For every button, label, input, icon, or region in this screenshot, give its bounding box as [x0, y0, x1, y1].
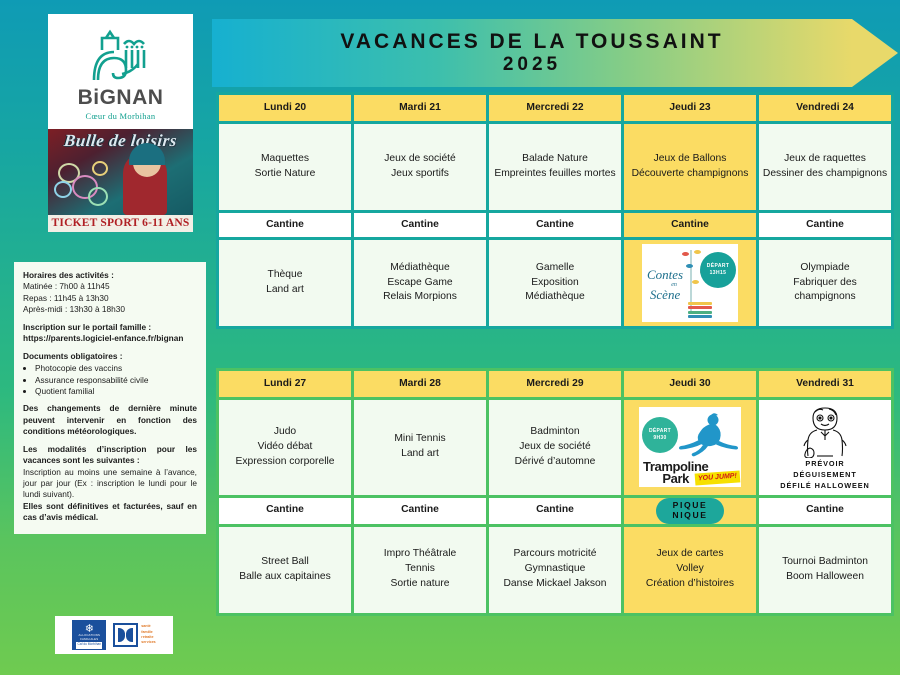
docs-title: Documents obligatoires : — [23, 351, 197, 362]
depart-badge-time: 9H30 — [653, 435, 666, 443]
costumed-child-icon — [797, 404, 853, 458]
leaf-decoration — [692, 280, 699, 284]
flyer-title-main: Contes — [647, 267, 683, 282]
week1-day-header[interactable]: Jeudi 23 — [624, 95, 756, 121]
partner-logos: ❄ ALLOCATIONS FAMILIALES Caf du Morbihan… — [55, 616, 173, 654]
week1-lunch-row: Cantine Cantine Cantine Cantine Cantine — [219, 213, 891, 237]
week1-afternoon-cell: MédiathèqueEscape GameRelais Morpions — [354, 240, 486, 326]
week2-morning-cell-trampoline: DÉPART 9H30 Tram — [624, 400, 756, 495]
info-panel: Horaires des activités : Matinée : 7h00 … — [14, 262, 206, 534]
weather-note: Des changements de dernière minute peuve… — [23, 403, 197, 437]
bubble-decoration — [88, 187, 108, 206]
msa-words: santéfamilleretraiteservices — [141, 624, 155, 646]
week2-morning-cell: BadmintonJeux de sociétéDérivé d’automne — [489, 400, 621, 495]
hours-line-1: Matinée : 7h00 à 11h45 — [23, 281, 197, 292]
week2-lunch-cell-picnic: PIQUE NIQUE — [624, 498, 756, 524]
docs-item: Assurance responsabilité civile — [35, 375, 197, 386]
week1-afternoon-cell: OlympiadeFabriquer des champignons — [759, 240, 891, 326]
week1-day-header[interactable]: Mercredi 22 — [489, 95, 621, 121]
week2-morning-row: JudoVidéo débatExpression corporelle Min… — [219, 400, 891, 495]
depart-badge: DÉPART 13H15 — [700, 252, 736, 288]
week2-afternoon-cell: Tournoi BadmintonBoom Halloween — [759, 527, 891, 613]
bubble-decoration — [54, 181, 72, 198]
week2-lunch-cell: Cantine — [759, 498, 891, 524]
week2-lunch-cell: Cantine — [489, 498, 621, 524]
week1-morning-row: MaquettesSortie Nature Jeux de sociétéJe… — [219, 124, 891, 210]
week1-morning-cell: Balade NatureEmpreintes feuilles mortes — [489, 124, 621, 210]
week2-morning-cell-halloween: PRÉVOIR DÉGUISEMENT DÉFILÉ HALLOWEEN — [759, 400, 891, 495]
week2-day-header[interactable]: Mercredi 29 — [489, 371, 621, 397]
banner-title: VACANCES DE LA TOUSSAINT — [340, 30, 723, 54]
leaf-decoration — [694, 250, 701, 254]
week1-header-row: Lundi 20 Mardi 21 Mercredi 22 Jeudi 23 V… — [219, 95, 891, 121]
bulle-de-loisirs-poster: Bulle de loisirs — [48, 129, 193, 215]
week2-lunch-cell: Cantine — [354, 498, 486, 524]
week2-afternoon-cell: Street BallBalle aux capitaines — [219, 527, 351, 613]
leaf-decoration — [686, 264, 693, 268]
left-column: BiGNAN Cœur du Morbihan Bulle de loisirs… — [48, 14, 193, 232]
flyer-title: Contes en Scène — [647, 268, 683, 302]
banner-year: 2025 — [503, 54, 561, 76]
week1-lunch-cell: Cantine — [624, 213, 756, 237]
modalities-bold: Elles sont définitives et facturées, sau… — [23, 501, 197, 524]
contes-en-scene-flyer: Contes en Scène DÉPART 13H15 — [642, 244, 738, 322]
bubble-decoration — [92, 161, 108, 176]
week2-afternoon-cell: Impro ThéâtraleTennisSortie nature — [354, 527, 486, 613]
week1-day-header[interactable]: Mardi 21 — [354, 95, 486, 121]
docs-item: Quotient familial — [35, 386, 197, 397]
week1-afternoon-row: ThèqueLand art MédiathèqueEscape GameRel… — [219, 240, 891, 326]
week1-morning-cell: Jeux de raquettesDessiner des champignon… — [759, 124, 891, 210]
modalities-title: Les modalités d’inscription pour les vac… — [23, 444, 197, 467]
hours-line-3: Après-midi : 13h30 à 18h30 — [23, 304, 197, 315]
week2-afternoon-cell: Parcours motricitéGymnastiqueDanse Micka… — [489, 527, 621, 613]
hours-line-2: Repas : 11h45 à 13h30 — [23, 293, 197, 304]
modalities-body: Inscription au moins une semaine à l’ava… — [23, 467, 197, 501]
week1-morning-cell: MaquettesSortie Nature — [219, 124, 351, 210]
ticket-sport-strip: TICKET SPORT 6-11 ANS — [48, 215, 193, 232]
flyer-title-sub: Scène — [650, 287, 680, 302]
trampoline-park-flyer: DÉPART 9H30 Tram — [639, 407, 741, 487]
halloween-notice: PRÉVOIR DÉGUISEMENT DÉFILÉ HALLOWEEN — [762, 404, 888, 491]
week1-lunch-cell: Cantine — [489, 213, 621, 237]
banner-text: VACANCES DE LA TOUSSAINT 2025 — [212, 19, 852, 87]
halloween-line-3: DÉFILÉ HALLOWEEN — [762, 481, 888, 491]
week2-day-header[interactable]: Lundi 27 — [219, 371, 351, 397]
depart-badge: DÉPART 9H30 — [642, 417, 678, 453]
week1-afternoon-cell-contes: Contes en Scène DÉPART 13H15 — [624, 240, 756, 326]
week1-afternoon-cell: ThèqueLand art — [219, 240, 351, 326]
book-decoration — [688, 315, 712, 318]
hours-title: Horaires des activités : — [23, 270, 197, 281]
pique-nique-badge: PIQUE NIQUE — [656, 498, 724, 524]
week2-day-header[interactable]: Jeudi 30 — [624, 371, 756, 397]
docs-list: Photocopie des vaccins Assurance respons… — [35, 363, 197, 397]
caf-box-label: Caf du Morbihan — [76, 642, 102, 649]
week1-morning-cell: Jeux de sociétéJeux sportifs — [354, 124, 486, 210]
book-decoration — [688, 306, 712, 309]
docs-item: Photocopie des vaccins — [35, 363, 197, 374]
week1-lunch-cell: Cantine — [219, 213, 351, 237]
week2-afternoon-row: Street BallBalle aux capitaines Impro Th… — [219, 527, 891, 613]
portal-title: Inscription sur le portail famille : — [23, 322, 197, 333]
leaf-decoration — [682, 252, 689, 256]
town-name: BiGNAN — [54, 86, 187, 109]
book-decoration — [688, 302, 712, 305]
week1-day-header[interactable]: Vendredi 24 — [759, 95, 891, 121]
books-decoration — [688, 300, 712, 318]
depart-badge-label: DÉPART — [707, 263, 730, 271]
you-jump-slogan: YOU JUMP! — [695, 471, 741, 486]
week1-morning-cell: Jeux de BallonsDécouverte champignons — [624, 124, 756, 210]
week2-morning-cell: Mini TennisLand art — [354, 400, 486, 495]
week2-morning-cell: JudoVidéo débatExpression corporelle — [219, 400, 351, 495]
week1-afternoon-cell: GamelleExpositionMédiathèque — [489, 240, 621, 326]
poster-root: BiGNAN Cœur du Morbihan Bulle de loisirs… — [0, 0, 900, 675]
week1-lunch-cell: Cantine — [759, 213, 891, 237]
week2-lunch-row: Cantine Cantine Cantine PIQUE NIQUE Cant… — [219, 498, 891, 524]
week2-day-header[interactable]: Vendredi 31 — [759, 371, 891, 397]
halloween-line-2: DÉGUISEMENT — [762, 470, 888, 480]
msa-logo: santéfamilleretraiteservices — [113, 623, 155, 647]
header-banner: VACANCES DE LA TOUSSAINT 2025 — [212, 19, 898, 87]
pique-nique-line2: NIQUE — [672, 511, 707, 521]
halloween-line-1: PRÉVOIR — [762, 459, 888, 469]
town-logo-card: BiGNAN Cœur du Morbihan — [48, 14, 193, 129]
week2-table: Lundi 27 Mardi 28 Mercredi 29 Jeudi 30 V… — [216, 368, 894, 616]
bignan-crest-icon — [88, 28, 154, 84]
msa-mark-icon — [113, 623, 138, 647]
town-tagline: Cœur du Morbihan — [54, 111, 187, 121]
poster-title: Bulle de loisirs — [48, 131, 193, 151]
banner-arrow-icon — [852, 19, 898, 87]
portal-url[interactable]: https://parents.logiciel-enfance.fr/bign… — [23, 333, 197, 344]
caf-logo: ❄ ALLOCATIONS FAMILIALES Caf du Morbihan — [72, 620, 106, 650]
caf-label: ALLOCATIONS FAMILIALES — [72, 633, 106, 641]
book-decoration — [688, 311, 712, 314]
week2-header-row: Lundi 27 Mardi 28 Mercredi 29 Jeudi 30 V… — [219, 371, 891, 397]
week1-table: Lundi 20 Mardi 21 Mercredi 22 Jeudi 23 V… — [216, 92, 894, 329]
week2-lunch-cell: Cantine — [219, 498, 351, 524]
depart-badge-label: DÉPART — [649, 428, 671, 436]
week2-day-header[interactable]: Mardi 28 — [354, 371, 486, 397]
depart-badge-time: 13H15 — [710, 270, 727, 278]
jumper-silhouette-icon — [677, 413, 739, 459]
week1-day-header[interactable]: Lundi 20 — [219, 95, 351, 121]
week2-afternoon-cell: Jeux de cartesVolleyCréation d’histoires — [624, 527, 756, 613]
week1-lunch-cell: Cantine — [354, 213, 486, 237]
